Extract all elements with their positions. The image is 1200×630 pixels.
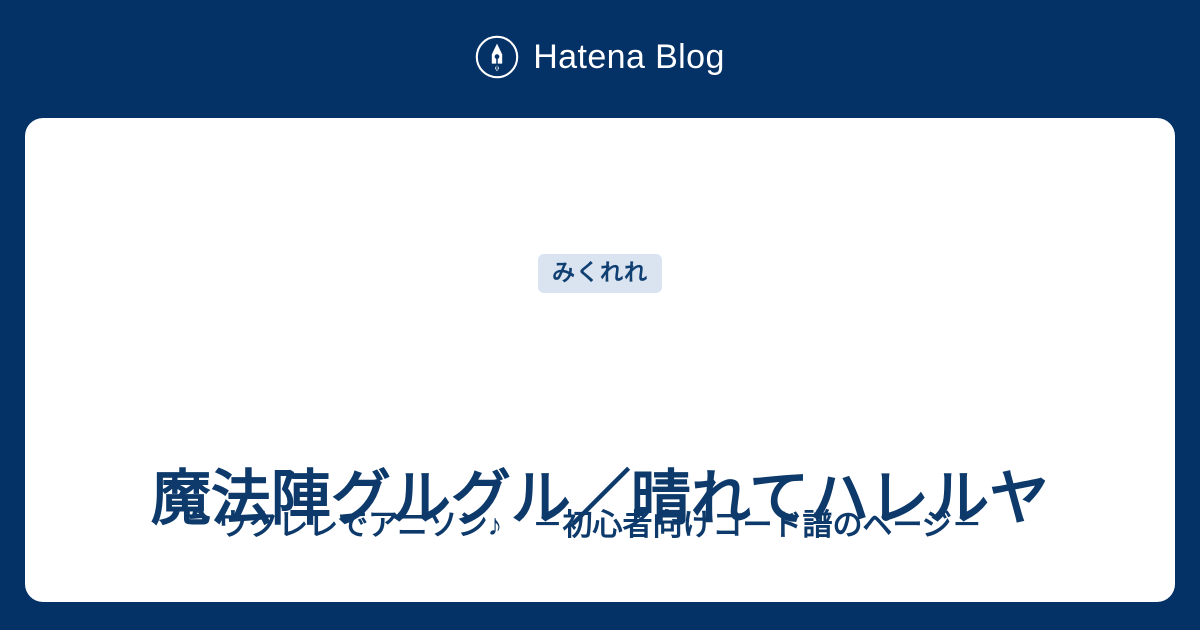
hatena-blog-logo[interactable]: Hatena Blog — [475, 35, 725, 79]
pen-nib-in-circle-icon — [475, 35, 519, 79]
entry-card: みくれれ 魔法陣グルグル／晴れてハレルヤ ウクレレでアニソン♪ －初心者向けコー… — [25, 118, 1175, 602]
brand-name-label: Hatena Blog — [533, 40, 725, 74]
blog-subtitle: ウクレレでアニソン♪ －初心者向けコード譜のページ－ — [25, 506, 1175, 545]
brand-header: Hatena Blog — [0, 0, 1200, 118]
category-badge[interactable]: みくれれ — [538, 254, 662, 293]
og-image-canvas: Hatena Blog みくれれ 魔法陣グルグル／晴れてハレルヤ ウクレレでアニ… — [0, 0, 1200, 630]
entry-card-inner: みくれれ 魔法陣グルグル／晴れてハレルヤ ウクレレでアニソン♪ －初心者向けコー… — [25, 118, 1175, 602]
